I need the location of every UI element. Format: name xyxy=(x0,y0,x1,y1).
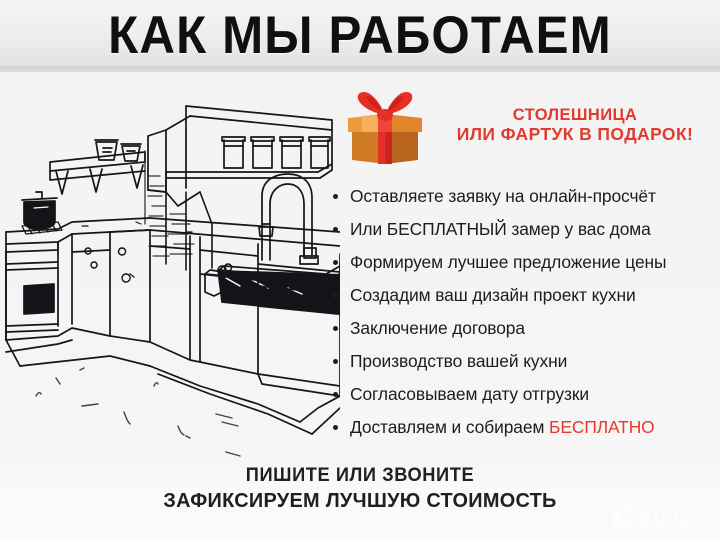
svg-text:Avito: Avito xyxy=(638,505,695,531)
list-item-label: Согласовываем дату отгрузки xyxy=(350,384,589,404)
steps-list: Оставляете заявку на онлайн-просчёт Или … xyxy=(330,180,720,444)
jars xyxy=(222,137,330,168)
list-item-label: Заключение договора xyxy=(350,318,525,338)
floor-marks xyxy=(36,368,240,456)
pot xyxy=(22,192,57,229)
avito-watermark: Avito xyxy=(606,500,710,534)
list-item-label: Формируем лучшее предложение цены xyxy=(350,252,666,272)
list-item: Формируем лучшее предложение цены xyxy=(330,246,720,279)
list-item-label: Оставляете заявку на онлайн-просчёт xyxy=(350,186,656,206)
upper-cabinet xyxy=(148,106,332,206)
bullet-dot xyxy=(333,392,338,397)
bullet-dot xyxy=(333,359,338,364)
bullet-dot xyxy=(333,260,338,265)
list-item-highlight: БЕСПЛАТНО xyxy=(549,417,655,437)
list-item: Создадим ваш дизайн проект кухни xyxy=(330,279,720,312)
gift-box-icon xyxy=(338,88,432,168)
cups xyxy=(95,140,141,161)
base-cabinets xyxy=(6,230,340,396)
kitchen-illustration xyxy=(0,74,340,474)
faucet xyxy=(259,174,318,264)
page-title: КАК МЫ РАБОТАЕМ xyxy=(25,2,695,68)
stove xyxy=(6,250,58,340)
bullet-dot xyxy=(333,326,338,331)
bullet-dot xyxy=(333,194,338,199)
promo-line-1: СТОЛЕШНИЦА xyxy=(440,106,710,125)
footer-line-1: ПИШИТЕ ИЛИ ЗВОНИТЕ xyxy=(14,464,705,488)
sink xyxy=(218,264,340,314)
floor xyxy=(6,340,340,434)
list-item: Или БЕСПЛАТНЫЙ замер у вас дома xyxy=(330,213,720,246)
promo-text: СТОЛЕШНИЦА ИЛИ ФАРТУК В ПОДАРОК! xyxy=(440,106,710,144)
list-item: Согласовываем дату отгрузки xyxy=(330,378,720,411)
footer-line-2: ЗАФИКСИРУЕМ ЛУЧШУЮ СТОИМОСТЬ xyxy=(11,488,709,513)
list-item-label: Или БЕСПЛАТНЫЙ замер у вас дома xyxy=(350,219,651,239)
list-item-label: Доставляем и собираем xyxy=(350,417,549,437)
advertisement-card: КАК МЫ РАБОТАЕМ xyxy=(0,0,720,540)
bullet-dot xyxy=(333,227,338,232)
list-item-label: Создадим ваш дизайн проект кухни xyxy=(350,285,636,305)
wall-shelf xyxy=(50,152,145,194)
list-item: Оставляете заявку на онлайн-просчёт xyxy=(330,180,720,213)
promo-line-2: ИЛИ ФАРТУК В ПОДАРОК! xyxy=(440,125,710,144)
bullet-dot xyxy=(333,425,338,430)
list-item: Доставляем и собираем БЕСПЛАТНО xyxy=(330,411,720,444)
list-item: Заключение договора xyxy=(330,312,720,345)
list-item-label: Производство вашей кухни xyxy=(350,351,567,371)
bullet-dot xyxy=(333,293,338,298)
list-item: Производство вашей кухни xyxy=(330,345,720,378)
